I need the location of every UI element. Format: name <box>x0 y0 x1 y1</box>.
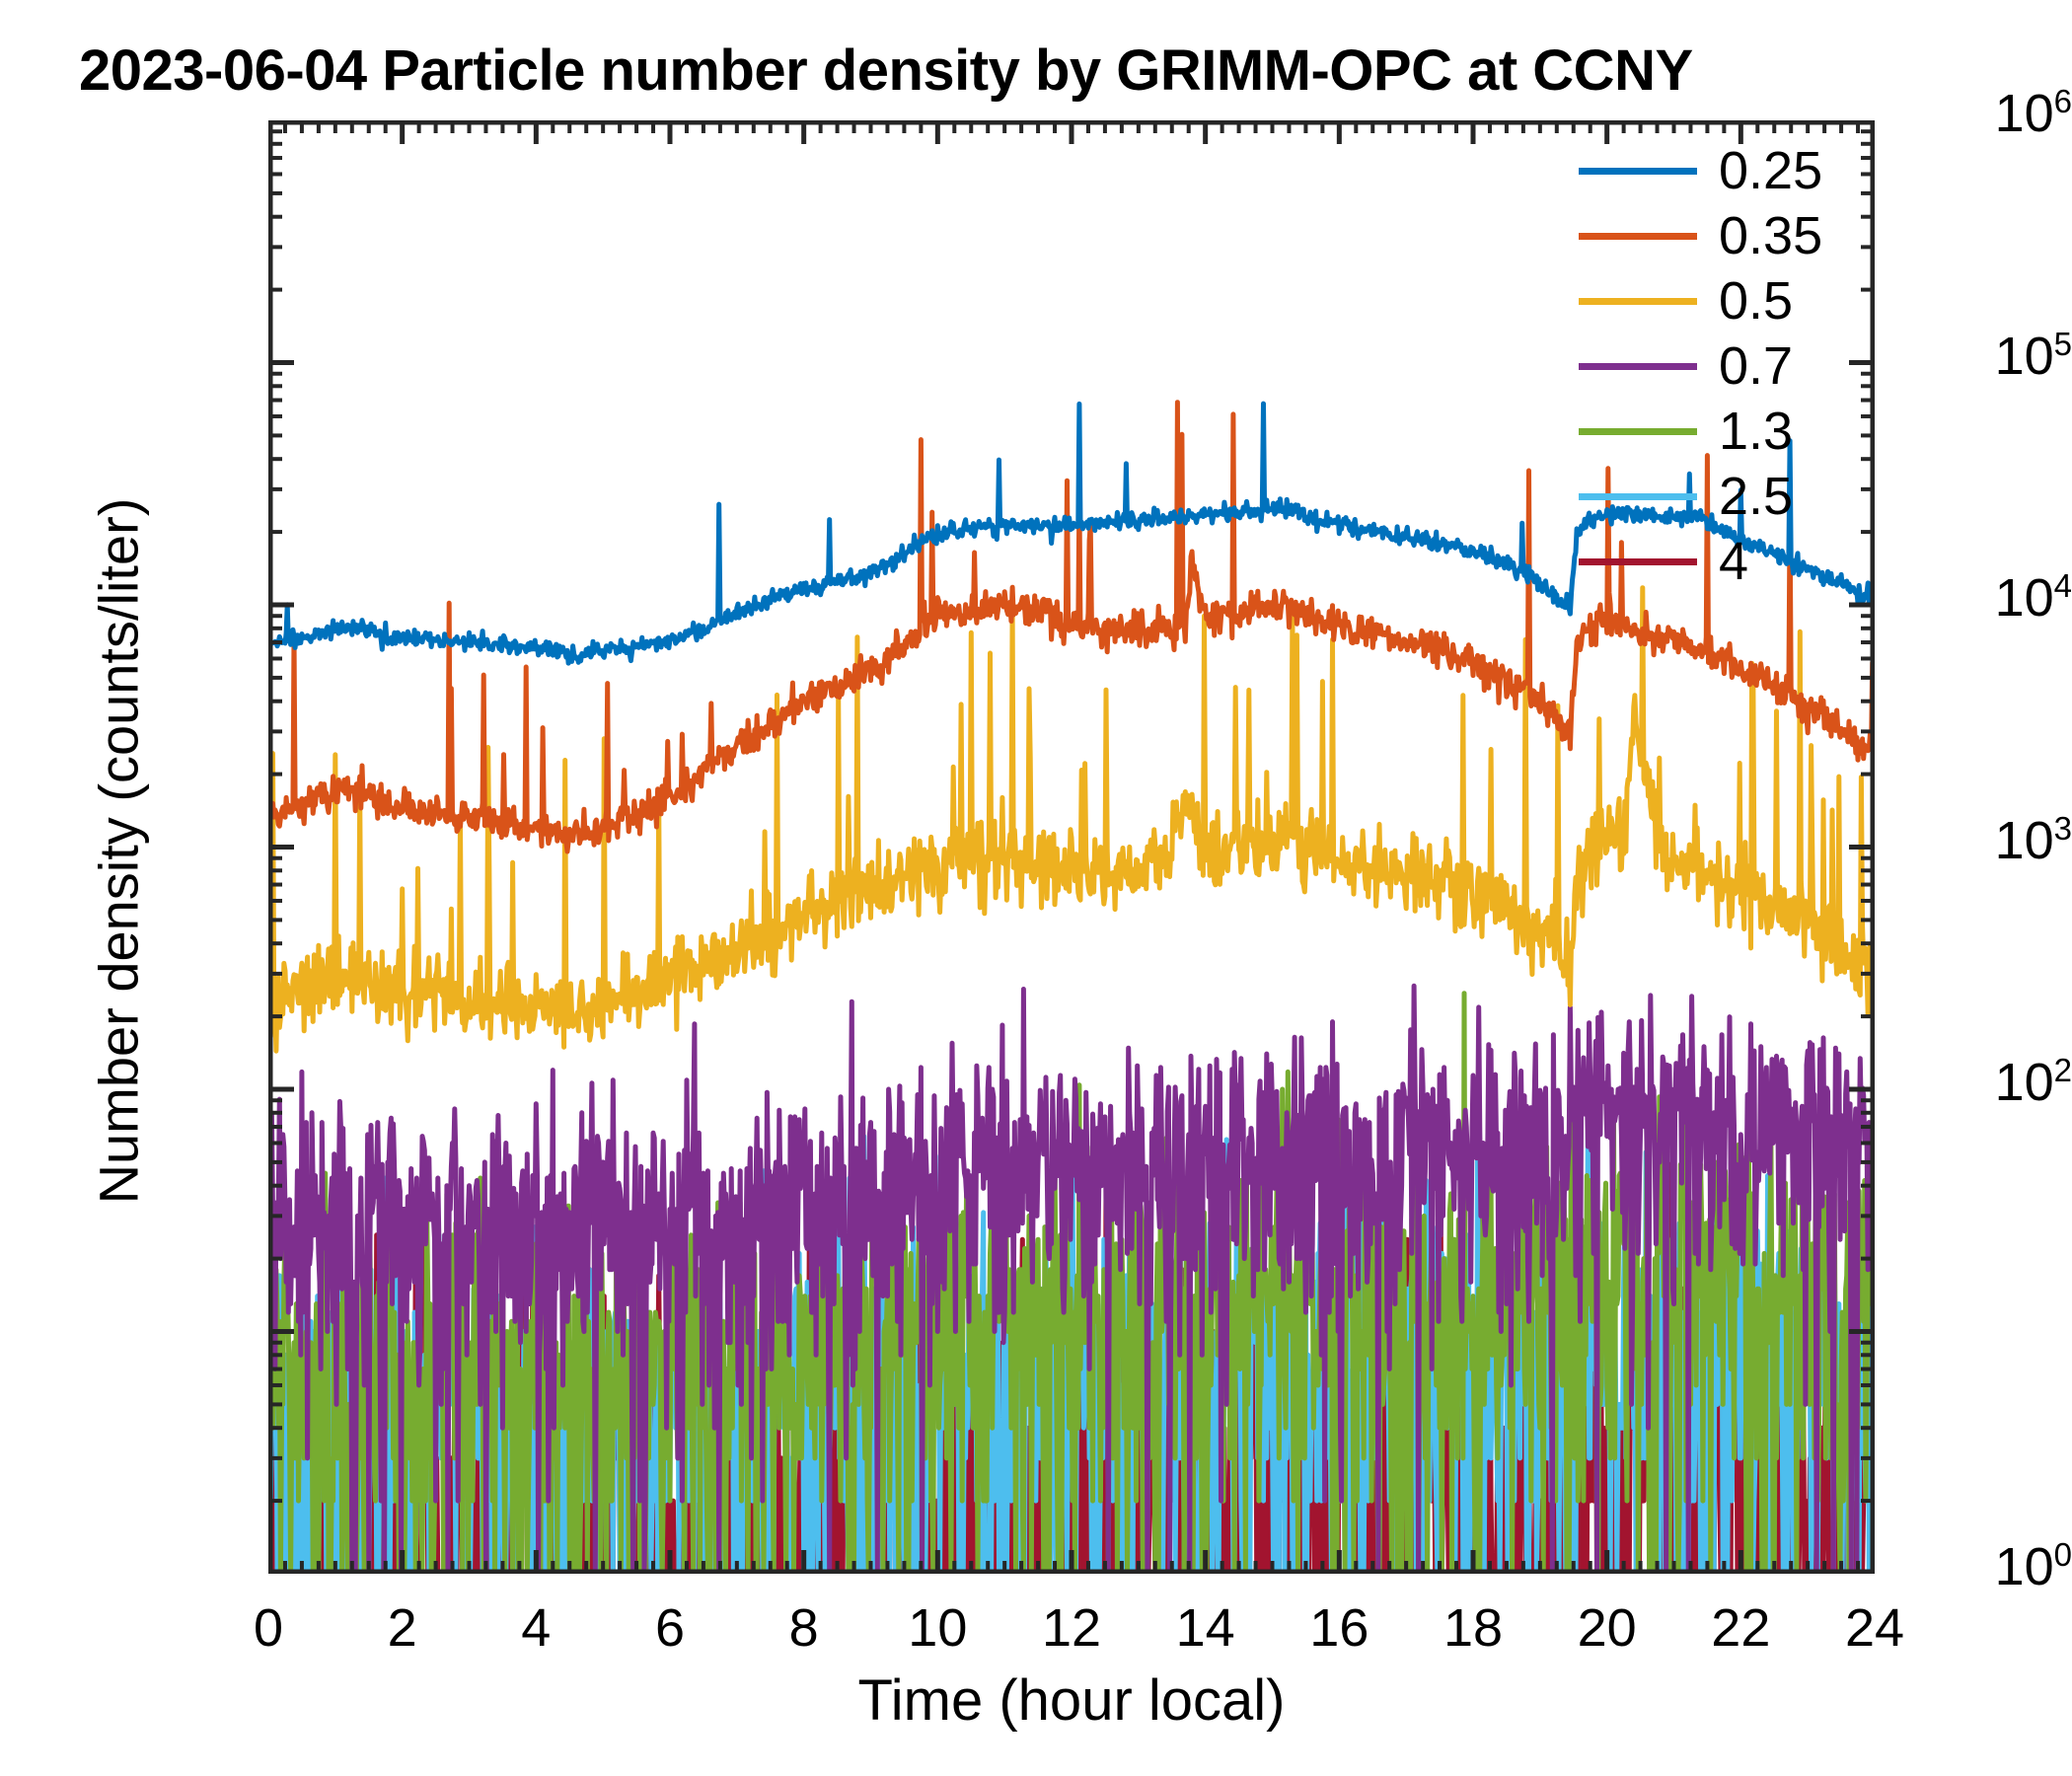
x-tick-label-20: 20 <box>1538 1597 1676 1659</box>
legend-label-1.3: 1.3 <box>1719 405 1793 458</box>
chart-legend: 0.250.350.50.71.32.54 <box>1579 138 1894 594</box>
legend-label-0.7: 0.7 <box>1719 339 1793 393</box>
legend-label-0.25: 0.25 <box>1719 144 1822 197</box>
legend-item-0.5[interactable]: 0.5 <box>1579 268 1894 333</box>
legend-swatch-0.5 <box>1579 298 1697 305</box>
legend-item-0.35[interactable]: 0.35 <box>1579 203 1894 268</box>
x-tick-label-16: 16 <box>1270 1597 1408 1659</box>
x-tick-label-22: 22 <box>1671 1597 1810 1659</box>
x-tick-label-6: 6 <box>601 1597 739 1659</box>
legend-swatch-0.7 <box>1579 363 1697 370</box>
legend-item-1.3[interactable]: 1.3 <box>1579 399 1894 464</box>
x-tick-label-24: 24 <box>1806 1597 1944 1659</box>
legend-label-4: 4 <box>1719 535 1748 588</box>
legend-item-0.25[interactable]: 0.25 <box>1579 138 1894 203</box>
x-axis-label: Time (hour local) <box>268 1667 1875 1734</box>
legend-item-4[interactable]: 4 <box>1579 529 1894 594</box>
legend-swatch-1.3 <box>1579 428 1697 435</box>
x-tick-label-18: 18 <box>1404 1597 1542 1659</box>
chart-title: 2023-06-04 Particle number density by GR… <box>79 37 2042 104</box>
y-axis-label: Number density (counts/liter) <box>87 358 151 1345</box>
x-tick-label-4: 4 <box>467 1597 605 1659</box>
x-tick-label-10: 10 <box>868 1597 1006 1659</box>
legend-item-2.5[interactable]: 2.5 <box>1579 464 1894 529</box>
legend-item-0.7[interactable]: 0.7 <box>1579 333 1894 399</box>
legend-label-0.5: 0.5 <box>1719 274 1793 328</box>
legend-swatch-0.35 <box>1579 233 1697 240</box>
x-tick-label-14: 14 <box>1137 1597 1275 1659</box>
x-tick-label-2: 2 <box>333 1597 472 1659</box>
x-tick-label-0: 0 <box>199 1597 337 1659</box>
legend-swatch-0.25 <box>1579 168 1697 175</box>
legend-swatch-2.5 <box>1579 493 1697 500</box>
legend-label-2.5: 2.5 <box>1719 470 1793 523</box>
x-tick-label-8: 8 <box>735 1597 873 1659</box>
x-tick-label-12: 12 <box>1002 1597 1141 1659</box>
legend-swatch-4 <box>1579 558 1697 565</box>
legend-label-0.35: 0.35 <box>1719 209 1822 262</box>
chart-figure: 2023-06-04 Particle number density by GR… <box>0 0 2072 1776</box>
